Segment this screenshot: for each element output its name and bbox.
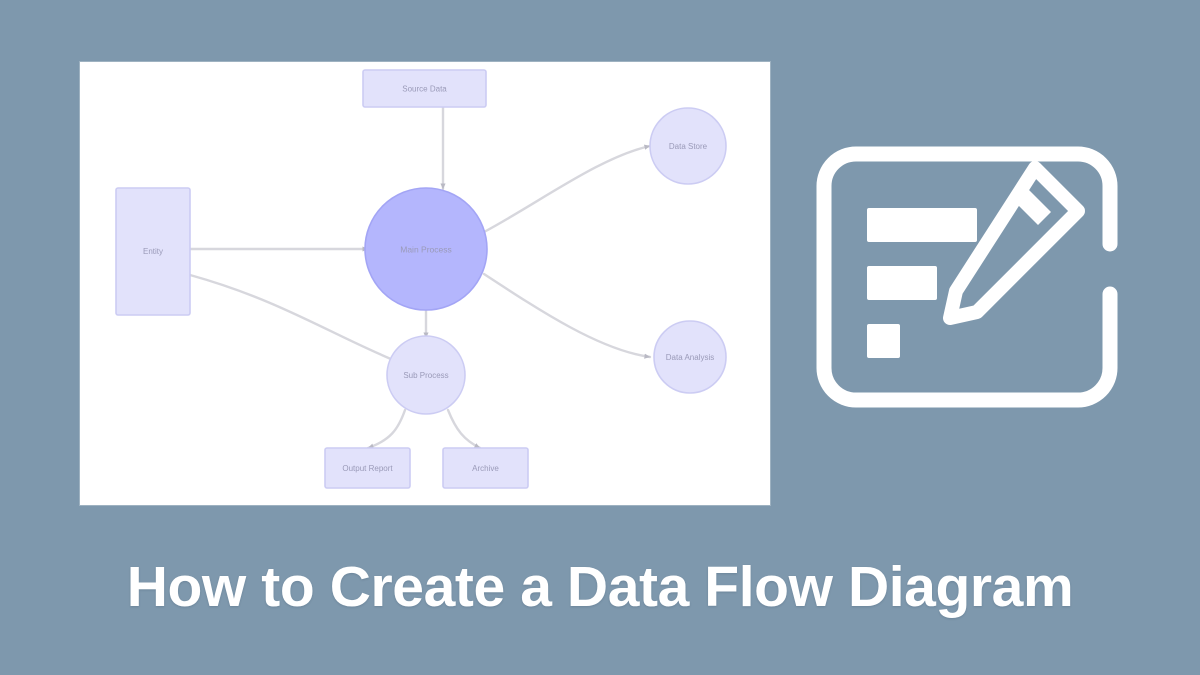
edge-subprocess-to-archive: [448, 410, 480, 448]
icon-pencil: [950, 168, 1078, 318]
hero-banner: Source Data Entity Main Process Data Sto…: [0, 0, 1200, 675]
form-edit-icon: [812, 146, 1122, 408]
node-sub-process[interactable]: Sub Process: [387, 336, 465, 414]
diagram-card: Source Data Entity Main Process Data Sto…: [80, 62, 770, 505]
node-data-store[interactable]: Data Store: [650, 108, 726, 184]
icon-list-bar-long: [867, 208, 977, 242]
edge-subprocess-to-report: [368, 410, 405, 448]
node-entity-label: Entity: [143, 247, 163, 256]
node-data-analysis[interactable]: Data Analysis: [654, 321, 726, 393]
node-sub-process-label: Sub Process: [403, 371, 448, 380]
page-title: How to Create a Data Flow Diagram: [0, 552, 1200, 622]
icon-list-bar-short: [867, 324, 900, 358]
edge-main-to-datastore: [484, 146, 650, 232]
node-data-analysis-label: Data Analysis: [666, 353, 714, 362]
node-main-process[interactable]: Main Process: [365, 188, 487, 310]
node-entity[interactable]: Entity: [116, 188, 190, 315]
node-main-process-label: Main Process: [400, 244, 452, 254]
node-source-data[interactable]: Source Data: [363, 70, 486, 107]
node-archive-label: Archive: [472, 464, 499, 473]
node-output-report-label: Output Report: [342, 464, 393, 473]
edge-main-to-analysis: [484, 274, 650, 357]
node-data-store-label: Data Store: [669, 142, 708, 151]
node-output-report[interactable]: Output Report: [325, 448, 410, 488]
edge-entity-to-subprocess: [190, 275, 398, 362]
node-source-data-label: Source Data: [402, 85, 447, 94]
data-flow-diagram-canvas[interactable]: Source Data Entity Main Process Data Sto…: [80, 62, 770, 505]
icon-list-bar-medium: [867, 266, 937, 300]
node-archive[interactable]: Archive: [443, 448, 528, 488]
